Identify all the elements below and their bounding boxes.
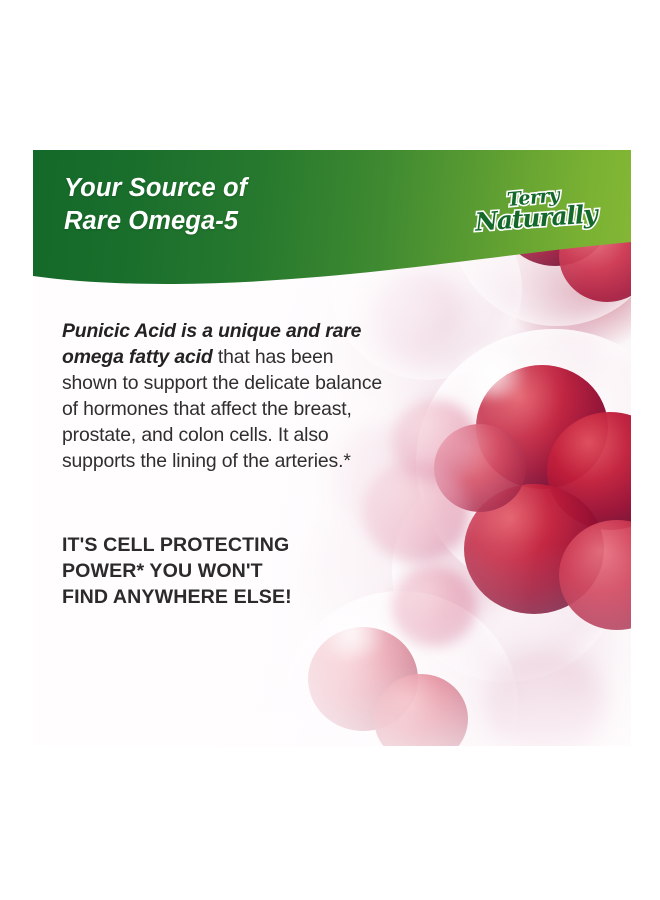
body-paragraph: Punicic Acid is a unique and rare omega … (62, 318, 384, 475)
product-info-card: Your Source of Rare Omega-5 Terry Natura… (33, 150, 631, 746)
callout-headline: IT'S CELL PROTECTING POWER* YOU WON'T FI… (62, 532, 392, 610)
page-title: Your Source of Rare Omega-5 (64, 172, 247, 238)
screenshot-canvas: Your Source of Rare Omega-5 Terry Natura… (0, 0, 660, 900)
logo-line-naturally: Naturally (474, 201, 597, 234)
